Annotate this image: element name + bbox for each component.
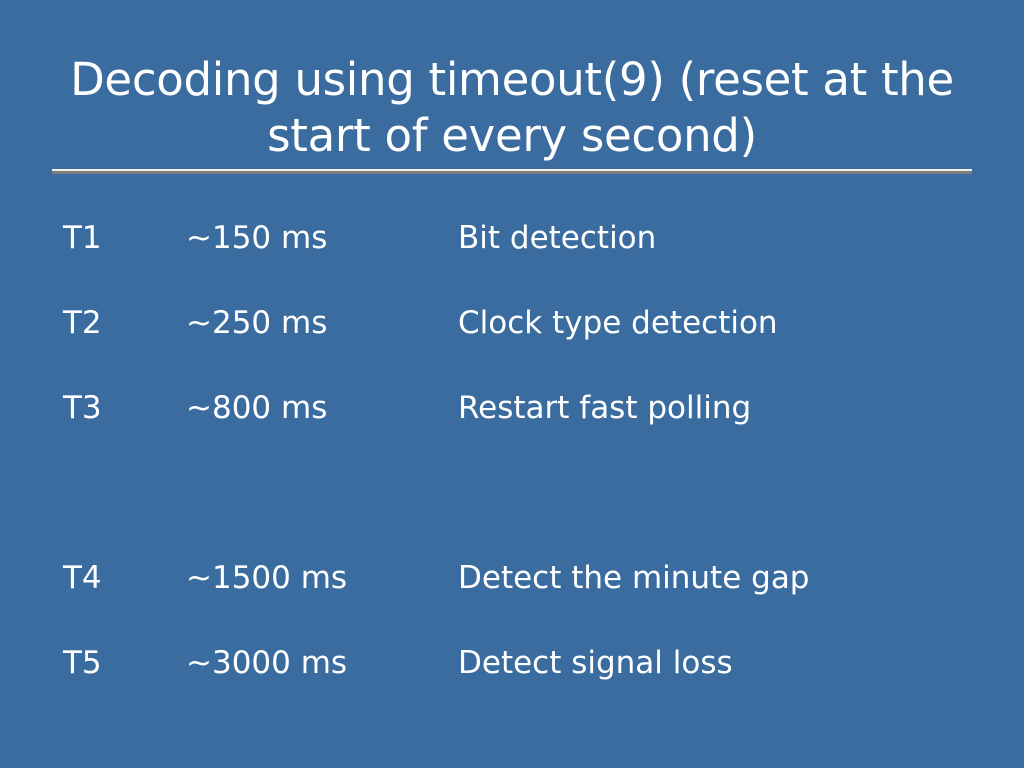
title-divider — [52, 169, 972, 174]
page-title: Decoding using timeout(9) (reset at the … — [52, 52, 972, 164]
table-row: T4 ~1500 ms Detect the minute gap — [0, 554, 1024, 639]
timer-duration: ~3000 ms — [186, 639, 347, 687]
timer-duration: ~1500 ms — [186, 554, 347, 602]
divider-shadow-line — [52, 171, 972, 174]
table-row: T3 ~800 ms Restart fast polling — [0, 384, 1024, 469]
table-row: T5 ~3000 ms Detect signal loss — [0, 639, 1024, 724]
timer-id: T4 — [63, 554, 102, 602]
timer-id: T5 — [63, 639, 102, 687]
timer-id: T3 — [63, 384, 102, 432]
timer-description: Detect the minute gap — [458, 554, 810, 602]
timer-id: T1 — [63, 214, 102, 262]
presentation-slide: Decoding using timeout(9) (reset at the … — [0, 0, 1024, 768]
timer-table: T1 ~150 ms Bit detection T2 ~250 ms Cloc… — [0, 214, 1024, 724]
timer-id: T2 — [63, 299, 102, 347]
title-block: Decoding using timeout(9) (reset at the … — [52, 52, 972, 164]
timer-description: Clock type detection — [458, 299, 778, 347]
table-row: T2 ~250 ms Clock type detection — [0, 299, 1024, 384]
table-row-empty — [0, 469, 1024, 554]
timer-description: Detect signal loss — [458, 639, 733, 687]
timer-description: Bit detection — [458, 214, 656, 262]
timer-duration: ~150 ms — [186, 214, 327, 262]
timer-duration: ~250 ms — [186, 299, 327, 347]
timer-description: Restart fast polling — [458, 384, 751, 432]
table-row: T1 ~150 ms Bit detection — [0, 214, 1024, 299]
timer-duration: ~800 ms — [186, 384, 327, 432]
